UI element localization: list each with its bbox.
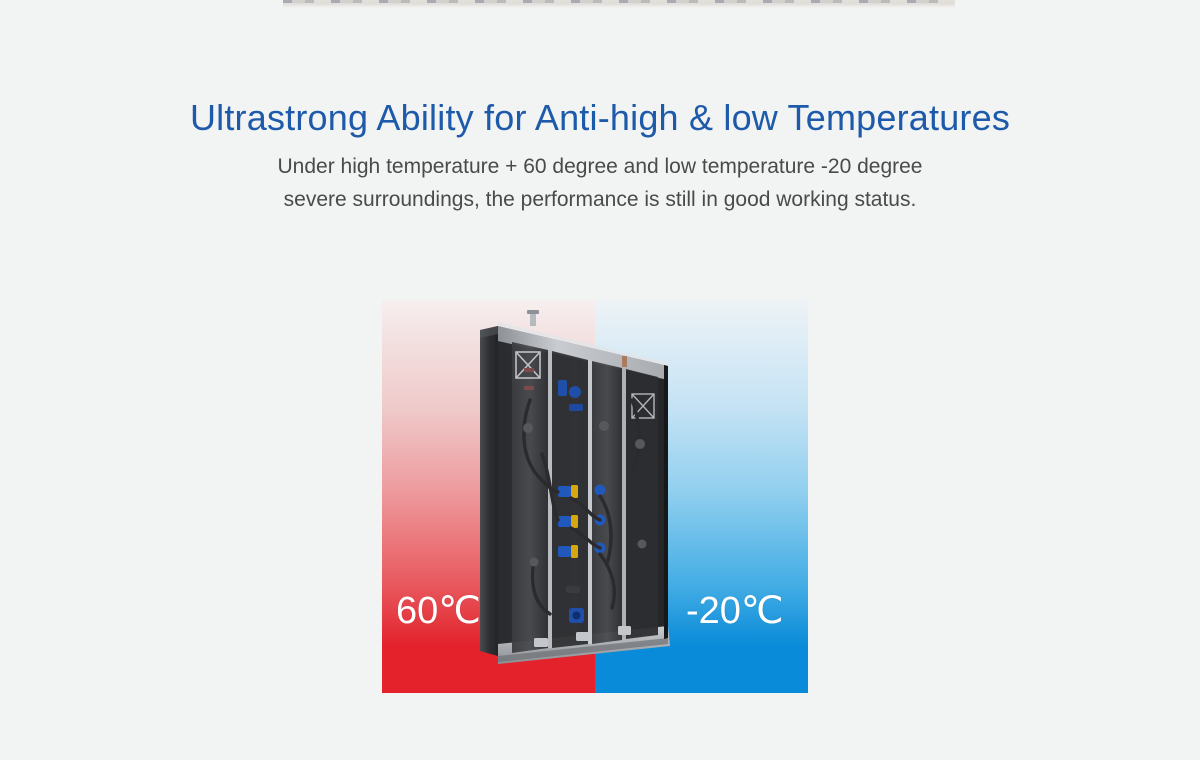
page-subtitle: Under high temperature + 60 degree and l… [130,151,1070,216]
page-title: Ultrastrong Ability for Anti-high & low … [0,96,1200,139]
bottom-spacer [0,700,1200,760]
page-subtitle-line-1: Under high temperature + 60 degree and l… [130,151,1070,184]
heading-block: Ultrastrong Ability for Anti-high & low … [0,96,1200,216]
previous-banner-edge-fade [283,3,955,8]
hot-temperature-label: 60℃ [396,592,481,630]
led-cabinet-temperature-illustration: 60℃ -20℃ [382,300,808,693]
page-subtitle-line-2: severe surroundings, the performance is … [130,184,1070,217]
led-display-cabinet-rear-view [472,308,702,678]
cold-temperature-label: -20℃ [686,592,784,630]
